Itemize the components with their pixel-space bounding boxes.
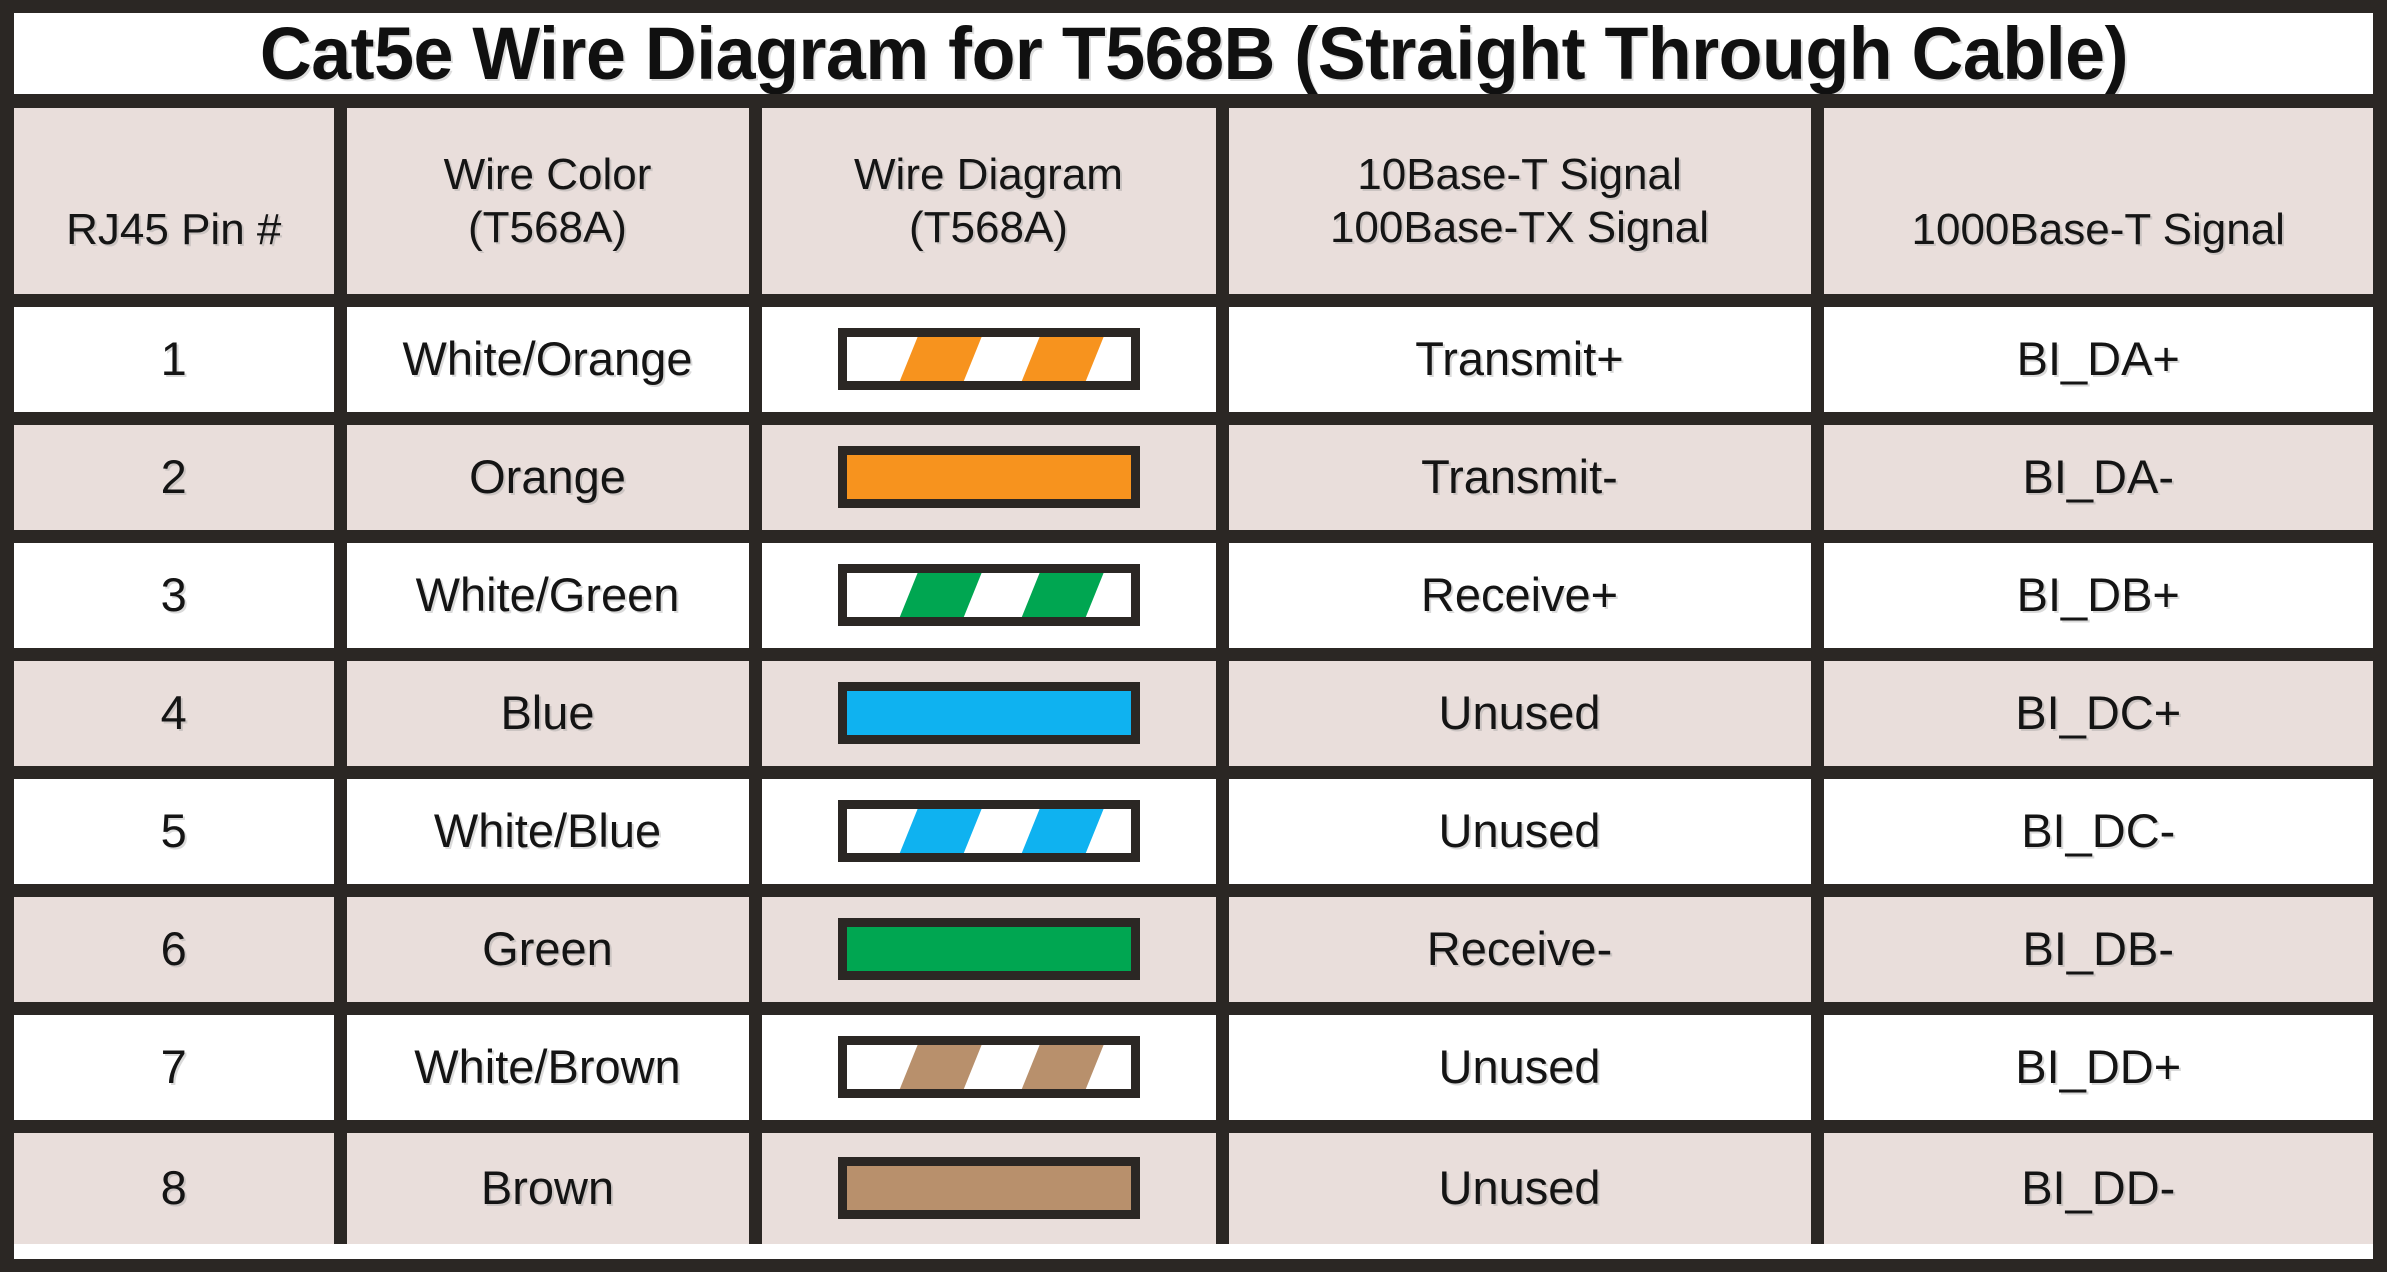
diagram-sheet: Cat5e Wire Diagram for T568B (Straight T… bbox=[0, 0, 2387, 1272]
cell-wire-diagram bbox=[755, 1008, 1222, 1126]
cell-wire-diagram bbox=[755, 654, 1222, 772]
table-row: 7White/BrownUnusedBI_DD+ bbox=[14, 1008, 2373, 1126]
column-header-wire-color: Wire Color (T568A) bbox=[340, 108, 755, 300]
cell-pin-number: 4 bbox=[14, 654, 340, 772]
cell-signal-10-100: Unused bbox=[1222, 1008, 1817, 1126]
cell-signal-1000: BI_DC- bbox=[1817, 772, 2373, 890]
wire-base-fill bbox=[847, 1166, 1131, 1210]
column-header-wire-diagram: Wire Diagram (T568A) bbox=[755, 108, 1222, 300]
cell-signal-1000: BI_DA+ bbox=[1817, 300, 2373, 418]
cell-signal-1000: BI_DD+ bbox=[1817, 1008, 2373, 1126]
cell-signal-10-100: Unused bbox=[1222, 1126, 1817, 1244]
wire-brown-solid-icon bbox=[838, 1157, 1140, 1219]
column-header-signal-10-100: 10Base-T Signal 100Base-TX Signal bbox=[1222, 108, 1817, 300]
table-header-row: RJ45 Pin # Wire Color (T568A) Wire Diagr… bbox=[14, 108, 2373, 300]
cell-signal-1000: BI_DA- bbox=[1817, 418, 2373, 536]
cell-wire-color: White/Green bbox=[340, 536, 755, 654]
table-row: 2OrangeTransmit-BI_DA- bbox=[14, 418, 2373, 536]
column-header-wire-color-line1: Wire Color bbox=[353, 148, 743, 201]
page-title: Cat5e Wire Diagram for T568B (Straight T… bbox=[259, 15, 2127, 93]
cell-pin-number: 2 bbox=[14, 418, 340, 536]
column-header-wire-diagram-line2: (T568A) bbox=[768, 201, 1210, 254]
cell-signal-1000: BI_DC+ bbox=[1817, 654, 2373, 772]
cell-wire-color: Blue bbox=[340, 654, 755, 772]
wire-base-fill bbox=[847, 455, 1131, 499]
cell-wire-diagram bbox=[755, 536, 1222, 654]
cell-signal-1000: BI_DB- bbox=[1817, 890, 2373, 1008]
wire-base-fill bbox=[847, 927, 1131, 971]
cell-signal-10-100: Receive+ bbox=[1222, 536, 1817, 654]
wire-base-fill bbox=[847, 691, 1131, 735]
cell-wire-diagram bbox=[755, 418, 1222, 536]
cell-pin-number: 3 bbox=[14, 536, 340, 654]
column-header-signal-1000: 1000Base-T Signal bbox=[1817, 108, 2373, 300]
cell-wire-diagram bbox=[755, 890, 1222, 1008]
wire-green-solid-icon bbox=[838, 918, 1140, 980]
cell-wire-diagram bbox=[755, 772, 1222, 890]
column-header-pin-label: RJ45 Pin # bbox=[20, 145, 328, 256]
column-header-wire-color-line2: (T568A) bbox=[353, 201, 743, 254]
table-row: 8BrownUnusedBI_DD- bbox=[14, 1126, 2373, 1244]
cell-signal-1000: BI_DB+ bbox=[1817, 536, 2373, 654]
cell-signal-10-100: Transmit- bbox=[1222, 418, 1817, 536]
cell-pin-number: 1 bbox=[14, 300, 340, 418]
cell-signal-10-100: Unused bbox=[1222, 772, 1817, 890]
cat5e-pinout-table: RJ45 Pin # Wire Color (T568A) Wire Diagr… bbox=[14, 108, 2373, 1244]
cell-pin-number: 8 bbox=[14, 1126, 340, 1244]
wire-blue-solid-icon bbox=[838, 682, 1140, 744]
column-header-wire-diagram-line1: Wire Diagram bbox=[768, 148, 1210, 201]
cell-pin-number: 7 bbox=[14, 1008, 340, 1126]
cell-wire-color: Brown bbox=[340, 1126, 755, 1244]
cell-wire-color: White/Orange bbox=[340, 300, 755, 418]
cell-wire-color: Green bbox=[340, 890, 755, 1008]
table-row: 5White/BlueUnusedBI_DC- bbox=[14, 772, 2373, 890]
table-row: 6GreenReceive-BI_DB- bbox=[14, 890, 2373, 1008]
cell-wire-diagram bbox=[755, 1126, 1222, 1244]
cell-wire-color: White/Brown bbox=[340, 1008, 755, 1126]
column-header-signal-10base-label: 10Base-T Signal bbox=[1235, 148, 1805, 201]
cell-signal-1000: BI_DD- bbox=[1817, 1126, 2373, 1244]
wire-orange-solid-icon bbox=[838, 446, 1140, 508]
table-body: 1White/OrangeTransmit+BI_DA+2OrangeTrans… bbox=[14, 300, 2373, 1244]
table-row: 3White/GreenReceive+BI_DB+ bbox=[14, 536, 2373, 654]
wire-white-brown-striped-icon bbox=[838, 1036, 1140, 1098]
cell-signal-10-100: Unused bbox=[1222, 654, 1817, 772]
cell-signal-10-100: Transmit+ bbox=[1222, 300, 1817, 418]
cell-wire-color: Orange bbox=[340, 418, 755, 536]
wire-white-blue-striped-icon bbox=[838, 800, 1140, 862]
table-row: 4BlueUnusedBI_DC+ bbox=[14, 654, 2373, 772]
column-header-pin: RJ45 Pin # bbox=[14, 108, 340, 300]
diagram-title-bar: Cat5e Wire Diagram for T568B (Straight T… bbox=[14, 13, 2373, 108]
cell-wire-color: White/Blue bbox=[340, 772, 755, 890]
column-header-signal-100base-label: 100Base-TX Signal bbox=[1235, 201, 1805, 254]
table-row: 1White/OrangeTransmit+BI_DA+ bbox=[14, 300, 2373, 418]
cell-wire-diagram bbox=[755, 300, 1222, 418]
cell-pin-number: 5 bbox=[14, 772, 340, 890]
column-header-signal-1000base-label: 1000Base-T Signal bbox=[1830, 145, 2368, 256]
wire-white-orange-striped-icon bbox=[838, 328, 1140, 390]
cell-pin-number: 6 bbox=[14, 890, 340, 1008]
cell-signal-10-100: Receive- bbox=[1222, 890, 1817, 1008]
wire-white-green-striped-icon bbox=[838, 564, 1140, 626]
